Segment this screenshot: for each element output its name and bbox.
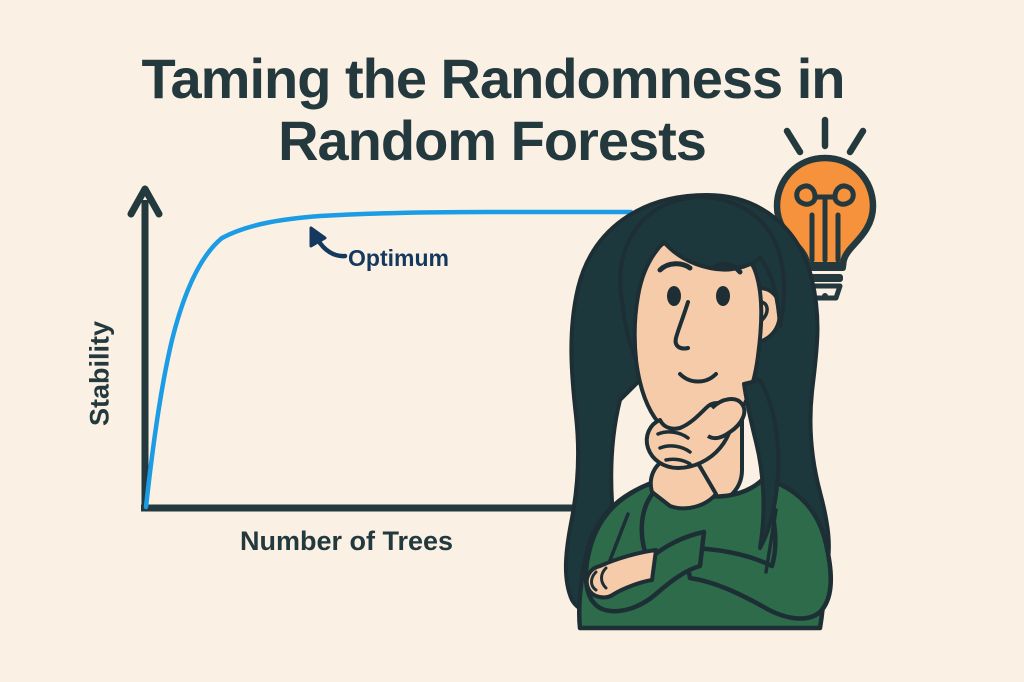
eye-right — [716, 286, 730, 306]
poster-canvas: Taming the Randomness in Random Forests … — [0, 0, 1024, 682]
lightbulb-rays-icon — [787, 120, 863, 152]
eye-left — [667, 286, 681, 306]
thinking-woman-illustration — [0, 0, 1024, 682]
